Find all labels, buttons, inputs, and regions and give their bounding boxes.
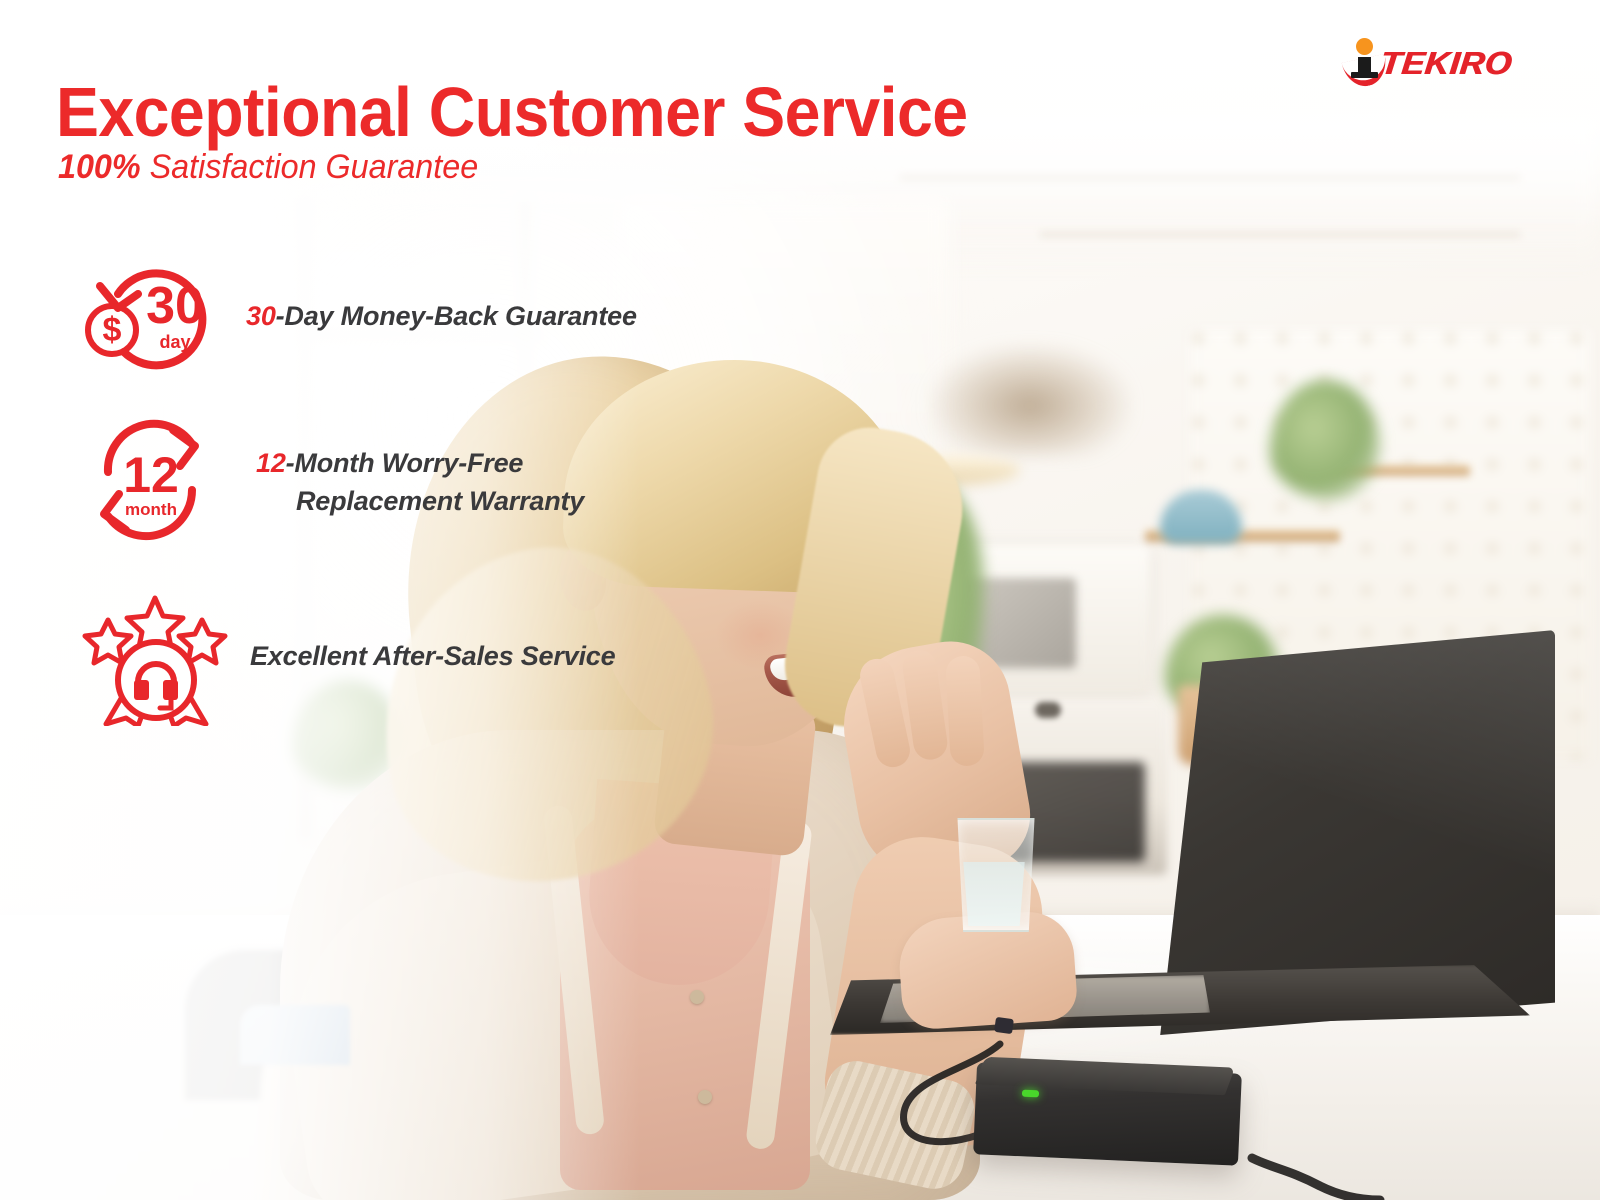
page-title: Exceptional Customer Service (56, 72, 968, 152)
medal-circle (118, 642, 194, 718)
badge-icon-svg (82, 586, 232, 726)
icon-unit-day: day (144, 332, 206, 353)
feature-highlight-12: 12 (256, 448, 286, 478)
feature-text-after-sales: Excellent After-Sales Service (250, 641, 615, 671)
brand-name: TEKIRO (1379, 49, 1513, 78)
adapter-led-indicator (1022, 1090, 1039, 1098)
cardigan-button (698, 1090, 712, 1104)
feature-highlight-30: 30 (246, 301, 276, 331)
subtitle-percent: 100% (58, 148, 141, 186)
cardigan-button (690, 990, 704, 1004)
headset-earcup-left (134, 680, 149, 700)
tekiro-logo-icon (1348, 38, 1382, 78)
feature-label-money-back: 30-Day Money-Back Guarantee (246, 297, 637, 335)
dc-plug-connector (994, 1017, 1014, 1034)
headset-earcup-right (163, 680, 178, 700)
logo-dot-icon (1356, 38, 1373, 55)
logo-base (1351, 72, 1378, 78)
subtitle-text: Satisfaction Guarantee (141, 148, 479, 186)
banner-canvas: TEKIRO Exceptional Customer Service 100%… (0, 0, 1600, 1200)
dollar-symbol: $ (103, 311, 122, 349)
icon-number-30: 30 (140, 280, 210, 332)
icon-unit-month: month (108, 500, 194, 520)
feature-item-money-back: $ 30 day 30-Day Money-Back Guarantee (78, 246, 637, 386)
feature-text-money-back: -Day Money-Back Guarantee (276, 301, 637, 331)
after-sales-service-badge-icon (82, 586, 232, 726)
ceiling-line (1040, 232, 1520, 237)
money-back-30-day-icon: $ 30 day (78, 246, 228, 386)
feature-label-warranty: 12-Month Worry-Free Replacement Warranty (256, 444, 584, 521)
icon-number-12: 12 (114, 450, 188, 500)
feature-text-warranty-line1: -Month Worry-Free (286, 448, 524, 478)
page-subtitle: 100% Satisfaction Guarantee (58, 148, 478, 187)
replacement-warranty-12-month-icon: 12 month (88, 412, 238, 552)
feature-label-after-sales: Excellent After-Sales Service (250, 637, 615, 675)
feature-item-after-sales: Excellent After-Sales Service (82, 586, 615, 726)
tekiro-logo[interactable]: TEKIRO (1348, 38, 1508, 78)
feature-text-warranty-line2: Replacement Warranty (256, 482, 584, 520)
feature-item-warranty: 12 month 12-Month Worry-Free Replacement… (88, 412, 584, 552)
water-level (962, 862, 1026, 926)
finger (945, 655, 985, 767)
